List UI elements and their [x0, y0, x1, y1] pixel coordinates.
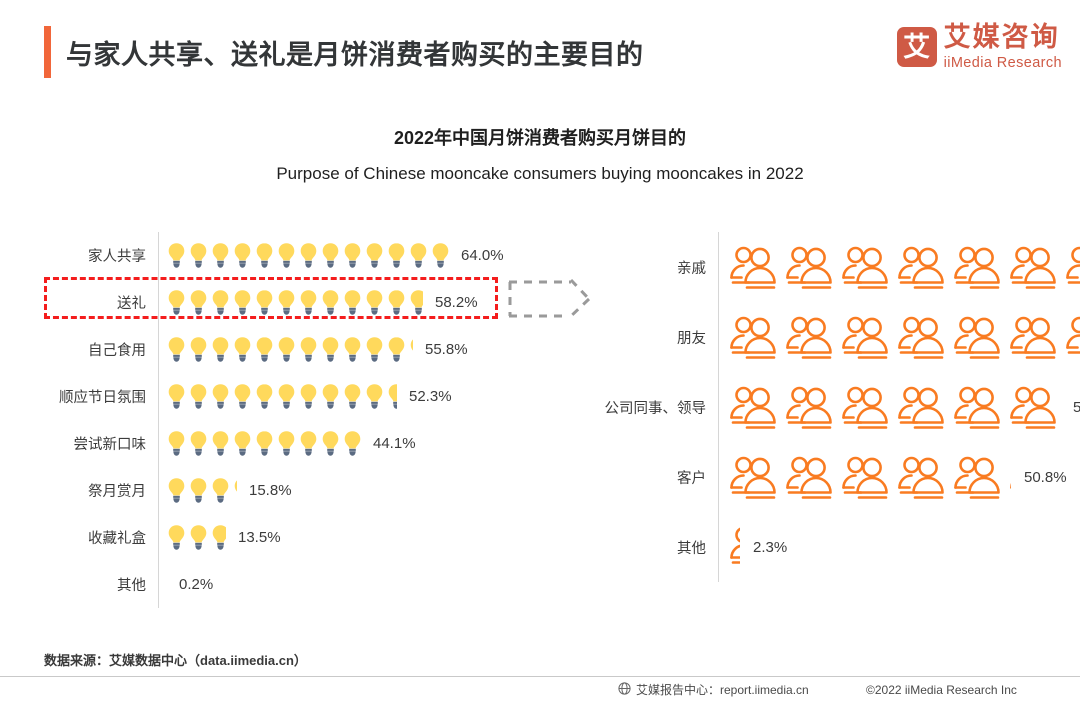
brand-logo: 艾 艾媒咨询 iiMedia Research: [897, 24, 1062, 71]
lightbulb-icon: [343, 430, 361, 457]
lightbulb-icon: [211, 383, 230, 410]
pictogram-icons: [159, 336, 416, 363]
lightbulb-icon: [299, 289, 318, 316]
lightbulb-icon: [277, 242, 296, 269]
pictogram-icons: [159, 430, 364, 457]
row-value: 52.3%: [409, 388, 452, 405]
row-value: 2.3%: [753, 539, 787, 556]
lightbulb-icon: [233, 242, 252, 269]
pictogram-icons: [719, 314, 1080, 360]
lightbulb-icon: [189, 524, 208, 551]
people-group-icon: [1007, 244, 1059, 290]
lightbulb-icon: [211, 430, 230, 457]
row-label: 朋友: [596, 327, 718, 348]
people-group-icon: [783, 244, 835, 290]
page-header: 与家人共享、送礼是月饼消费者购买的主要目的 艾 艾媒咨询 iiMedia Res…: [0, 0, 1080, 104]
people-group-icon: [895, 454, 947, 500]
people-group-icon: [951, 454, 1003, 500]
logo-english-name: iiMedia Research: [944, 56, 1062, 71]
lightbulb-icon: [189, 383, 208, 410]
lightbulb-icon: [255, 336, 274, 363]
people-group-icon: [1007, 454, 1011, 500]
people-group-icon: [839, 314, 891, 360]
purpose-pictogram-chart: 家人共享64.0%送礼58.2%自己食用55.8%顺应节日氛围52.3%尝试新口…: [44, 232, 564, 608]
chart-row: 祭月赏月15.8%: [44, 467, 564, 514]
lightbulb-icon: [167, 383, 186, 410]
lightbulb-icon: [299, 336, 318, 363]
people-group-icon: [895, 244, 947, 290]
row-label: 公司同事、领导: [596, 397, 718, 418]
chart-row: 亲戚74.6%: [596, 232, 1066, 302]
people-group-icon: [727, 524, 740, 570]
people-group-icon: [1063, 244, 1080, 290]
row-value: 0.2%: [179, 576, 213, 593]
lightbulb-icon: [321, 289, 340, 316]
people-group-icon: [839, 244, 891, 290]
people-group-icon: [895, 314, 947, 360]
people-group-icon: [727, 314, 779, 360]
row-value: 64.0%: [461, 247, 504, 264]
pictogram-icons: [159, 242, 452, 269]
lightbulb-icon: [343, 336, 362, 363]
category-axis-line: [158, 561, 159, 608]
row-label: 亲戚: [596, 257, 718, 278]
lightbulb-icon: [211, 524, 226, 551]
lightbulb-icon: [255, 430, 274, 457]
lightbulb-icon: [167, 524, 186, 551]
row-label: 家人共享: [44, 245, 158, 266]
logo-text: 艾媒咨询 iiMedia Research: [944, 24, 1062, 71]
lightbulb-icon: [167, 242, 186, 269]
chart-title: 2022年中国月饼消费者购买月饼目的: [0, 124, 1080, 150]
chart-row: 朋友63.2%: [596, 302, 1066, 372]
lightbulb-icon: [167, 289, 186, 316]
globe-icon: [618, 682, 631, 698]
lightbulb-icon: [255, 242, 274, 269]
people-group-icon: [727, 244, 779, 290]
chart-row: 尝试新口味44.1%: [44, 420, 564, 467]
lightbulb-icon: [277, 336, 296, 363]
chart-row: 送礼58.2%: [44, 279, 564, 326]
lightbulb-icon: [233, 289, 252, 316]
chart-row: 家人共享64.0%: [44, 232, 564, 279]
lightbulb-icon: [387, 383, 397, 410]
people-group-icon: [727, 454, 779, 500]
lightbulb-icon: [211, 242, 230, 269]
chart-row: 其他2.3%: [596, 512, 1066, 582]
row-value: 58.2%: [435, 294, 478, 311]
pictogram-icons: [719, 244, 1080, 290]
row-label: 尝试新口味: [44, 433, 158, 454]
lightbulb-icon: [321, 430, 340, 457]
pictogram-icons: [159, 524, 229, 551]
lightbulb-icon: [299, 430, 318, 457]
logo-chinese-name: 艾媒咨询: [944, 24, 1062, 51]
lightbulb-icon: [233, 383, 252, 410]
lightbulb-icon: [387, 336, 406, 363]
row-value: 15.8%: [249, 482, 292, 499]
pictogram-icons: [159, 383, 400, 410]
row-label: 送礼: [44, 292, 158, 313]
page-footer: 艾媒报告中心：report.iimedia.cn ©2022 iiMedia R…: [0, 677, 1080, 702]
people-group-icon: [895, 384, 947, 430]
people-group-icon: [1007, 384, 1060, 430]
row-value: 50.8%: [1024, 469, 1067, 486]
lightbulb-icon: [189, 430, 208, 457]
row-label: 顺应节日氛围: [44, 386, 158, 407]
lightbulb-icon: [343, 289, 362, 316]
lightbulb-icon: [321, 242, 340, 269]
chart-row: 客户50.8%: [596, 442, 1066, 512]
people-group-icon: [951, 314, 1003, 360]
lightbulb-icon: [167, 336, 186, 363]
chart-row: 顺应节日氛围52.3%: [44, 373, 564, 420]
lightbulb-icon: [189, 242, 208, 269]
lightbulb-icon: [189, 336, 208, 363]
lightbulb-icon: [409, 289, 423, 316]
lightbulb-icon: [365, 383, 384, 410]
lightbulb-icon: [233, 336, 252, 363]
people-group-icon: [951, 244, 1003, 290]
lightbulb-icon: [321, 336, 340, 363]
row-value: 55.8%: [425, 341, 468, 358]
logo-mark-icon: 艾: [897, 27, 937, 67]
lightbulb-icon: [255, 289, 274, 316]
data-source-note: 数据来源：艾媒数据中心（data.iimedia.cn）: [44, 650, 307, 669]
report-center-text: 艾媒报告中心：report.iimedia.cn: [636, 681, 809, 698]
copyright-text: ©2022 iiMedia Research Inc: [866, 683, 1017, 697]
people-group-icon: [839, 454, 891, 500]
lightbulb-icon: [343, 383, 362, 410]
row-label: 自己食用: [44, 339, 158, 360]
chart-row: 自己食用55.8%: [44, 326, 564, 373]
people-group-icon: [783, 384, 835, 430]
lightbulb-icon: [409, 242, 428, 269]
row-label: 其他: [44, 574, 158, 595]
lightbulb-icon: [299, 242, 318, 269]
lightbulb-icon: [387, 289, 406, 316]
lightbulb-icon: [189, 477, 208, 504]
row-label: 客户: [596, 467, 718, 488]
lightbulb-icon: [343, 242, 362, 269]
lightbulb-icon: [211, 477, 230, 504]
pictogram-icons: [719, 384, 1064, 430]
lightbulb-icon: [167, 430, 186, 457]
people-group-icon: [783, 454, 835, 500]
lightbulb-icon: [431, 242, 449, 269]
pictogram-icons: [719, 454, 1015, 500]
row-label: 收藏礼盒: [44, 527, 158, 548]
report-center-link[interactable]: 艾媒报告中心：report.iimedia.cn: [618, 681, 809, 698]
row-value: 59.4%: [1073, 399, 1080, 416]
row-label: 祭月赏月: [44, 480, 158, 501]
page-title: 与家人共享、送礼是月饼消费者购买的主要目的: [66, 33, 644, 72]
people-group-icon: [783, 314, 835, 360]
chart-row: 其他0.2%: [44, 561, 564, 608]
pictogram-icons: [159, 477, 240, 504]
lightbulb-icon: [211, 289, 230, 316]
lightbulb-icon: [409, 336, 413, 363]
people-group-icon: [951, 384, 1003, 430]
people-group-icon: [1007, 314, 1059, 360]
lightbulb-icon: [321, 383, 340, 410]
title-accent-bar: [44, 26, 51, 78]
lightbulb-icon: [167, 477, 186, 504]
pictogram-icons: [719, 524, 744, 570]
lightbulb-icon: [365, 242, 384, 269]
lightbulb-icon: [299, 383, 318, 410]
people-group-icon: [1063, 314, 1080, 360]
row-value: 44.1%: [373, 435, 416, 452]
lightbulb-icon: [277, 383, 296, 410]
lightbulb-icon: [233, 430, 252, 457]
lightbulb-icon: [277, 430, 296, 457]
chart-row: 收藏礼盒13.5%: [44, 514, 564, 561]
lightbulb-icon: [387, 242, 406, 269]
recipients-pictogram-chart: 亲戚74.6%朋友63.2%公司同事、领导59.4%客户50.8%其他2.3%: [596, 232, 1066, 582]
pictogram-icons: [159, 289, 426, 316]
people-group-icon: [839, 384, 891, 430]
lightbulb-icon: [365, 289, 384, 316]
chart-row: 公司同事、领导59.4%: [596, 372, 1066, 442]
row-value: 13.5%: [238, 529, 281, 546]
lightbulb-icon: [211, 336, 230, 363]
people-group-icon: [727, 384, 779, 430]
lightbulb-icon: [277, 289, 296, 316]
lightbulb-icon: [365, 336, 384, 363]
lightbulb-icon: [255, 383, 274, 410]
chart-subtitle: Purpose of Chinese mooncake consumers bu…: [0, 164, 1080, 184]
row-label: 其他: [596, 537, 718, 558]
lightbulb-icon: [233, 477, 237, 504]
lightbulb-icon: [189, 289, 208, 316]
